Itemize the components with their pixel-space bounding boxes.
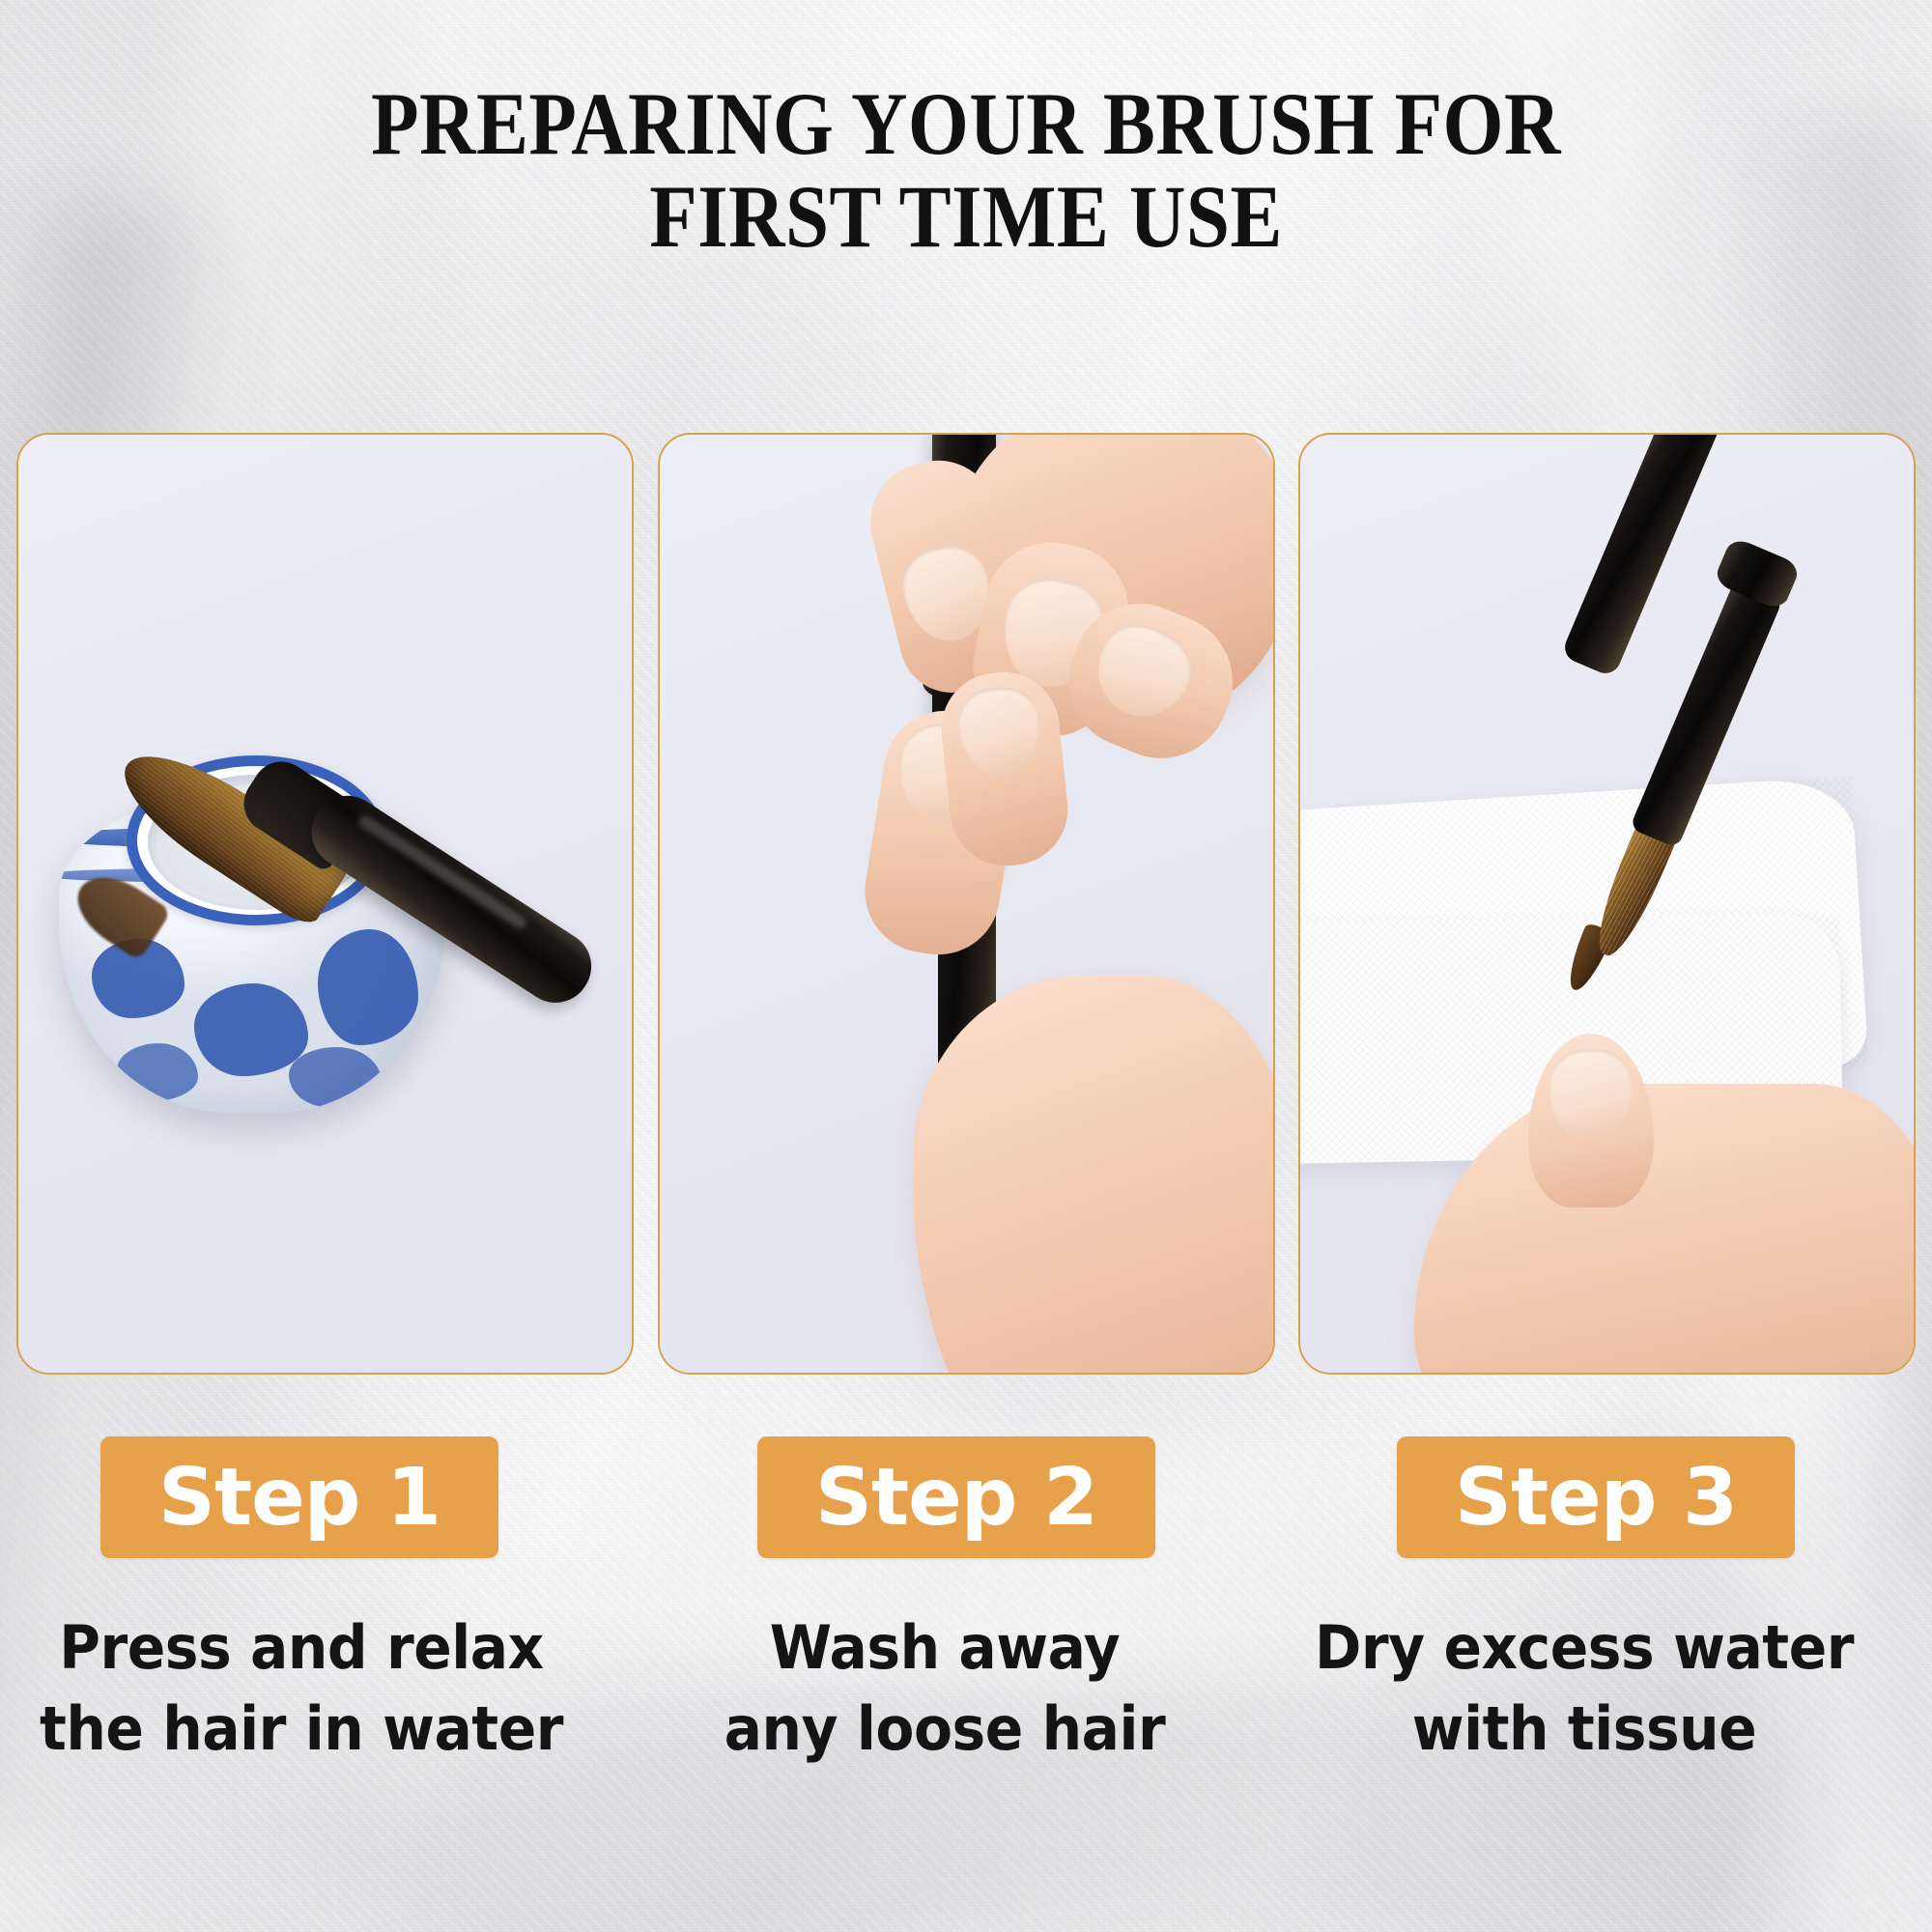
pot-blue-motif-5 (289, 1047, 382, 1107)
step-caption-3: Dry excess water with tissue (1312, 1607, 1857, 1770)
step-photo-panel-2 (658, 433, 1275, 1375)
step-badge-3[interactable]: Step 3 (1397, 1436, 1795, 1558)
step-badge-2[interactable]: Step 2 (757, 1436, 1155, 1558)
step-badge-label-1: Step 1 (158, 1452, 440, 1544)
step-caption-1-line-1: Press and relax (29, 1607, 574, 1689)
step-photo-panel-3 (1298, 433, 1916, 1375)
lower-hand (913, 976, 1273, 1373)
step-badge-label-2: Step 2 (815, 1452, 1097, 1544)
step-caption-1: Press and relax the hair in water (29, 1607, 574, 1770)
step-caption-2-line-2: any loose hair (672, 1689, 1217, 1770)
step-1-photo (18, 435, 632, 1373)
step-caption-2: Wash away any loose hair (672, 1607, 1217, 1770)
pot-blue-motif-2 (194, 983, 308, 1076)
pot-blue-motif-4 (117, 1043, 198, 1101)
water-pot-group (59, 724, 474, 1130)
page-title-line-2: FIRST TIME USE (116, 170, 1816, 263)
page-title-line-1: PREPARING YOUR BRUSH FOR (116, 77, 1816, 170)
step-2-photo (660, 435, 1273, 1373)
step-caption-2-line-1: Wash away (672, 1607, 1217, 1689)
step-caption-3-line-2: with tissue (1312, 1689, 1857, 1770)
step-3-photo (1300, 435, 1914, 1373)
step-photo-panel-1 (16, 433, 634, 1375)
page-title: PREPARING YOUR BRUSH FOR FIRST TIME USE (116, 77, 1816, 263)
step-caption-3-line-1: Dry excess water (1312, 1607, 1857, 1689)
step-badge-label-3: Step 3 (1455, 1452, 1737, 1544)
step-badge-1[interactable]: Step 1 (100, 1436, 498, 1558)
pot-blue-motif-3 (318, 929, 418, 1045)
step-caption-1-line-2: the hair in water (29, 1689, 574, 1770)
